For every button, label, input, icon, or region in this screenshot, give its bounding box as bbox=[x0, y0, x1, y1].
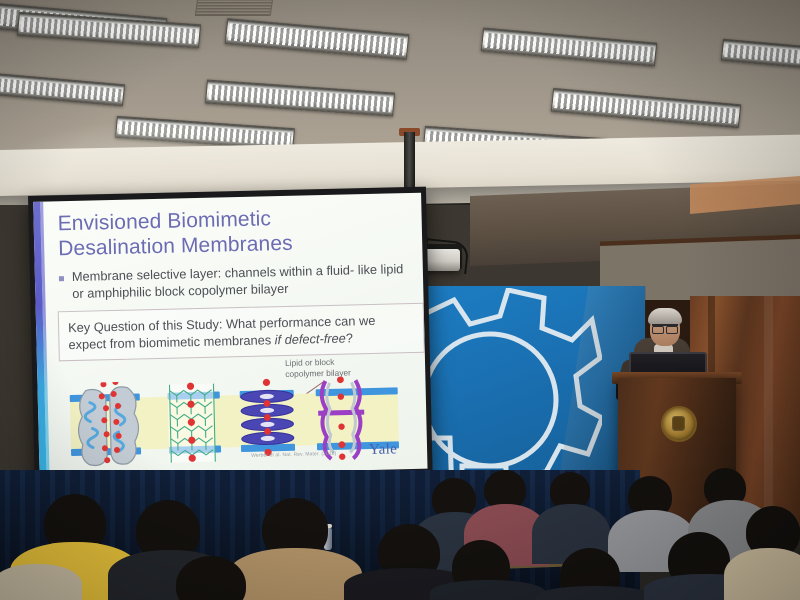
audience-shoulders bbox=[724, 548, 800, 600]
audience-shoulders bbox=[228, 548, 362, 600]
eyeglasses-icon bbox=[652, 324, 678, 332]
university-seal-icon bbox=[661, 406, 697, 442]
yale-logo: Yale bbox=[369, 441, 397, 459]
bullet-line-1: Membrane selective layer: channels withi… bbox=[72, 262, 355, 284]
membrane-diagram bbox=[63, 375, 405, 469]
square-bullet-icon bbox=[59, 276, 64, 281]
key-question-box: Key Question of this Study: What perform… bbox=[58, 303, 425, 362]
audience-shoulders bbox=[0, 564, 82, 600]
speaker-hair bbox=[648, 308, 682, 324]
slide-surface: Envisioned Biomimetic Desalination Membr… bbox=[33, 193, 427, 478]
lecture-hall-photo: Envisioned Biomimetic Desalination Membr… bbox=[0, 0, 800, 600]
ceiling-vent-icon bbox=[195, 0, 274, 16]
audience-shoulders bbox=[430, 580, 546, 600]
key-question-text: Key Question of this Study: What perform… bbox=[68, 311, 415, 353]
slide-title: Envisioned Biomimetic Desalination Membr… bbox=[57, 204, 388, 262]
slide-bullet-item: Membrane selective layer: channels withi… bbox=[59, 261, 408, 302]
key-question-emphasis: if defect-free bbox=[275, 331, 346, 348]
key-question-line2-after: ? bbox=[346, 330, 353, 345]
projection-screen[interactable]: Envisioned Biomimetic Desalination Membr… bbox=[28, 187, 433, 484]
audience-shoulders bbox=[536, 586, 654, 600]
slide-bullet-text: Membrane selective layer: channels withi… bbox=[72, 261, 408, 302]
carbon-nanotube-channel bbox=[167, 382, 215, 463]
